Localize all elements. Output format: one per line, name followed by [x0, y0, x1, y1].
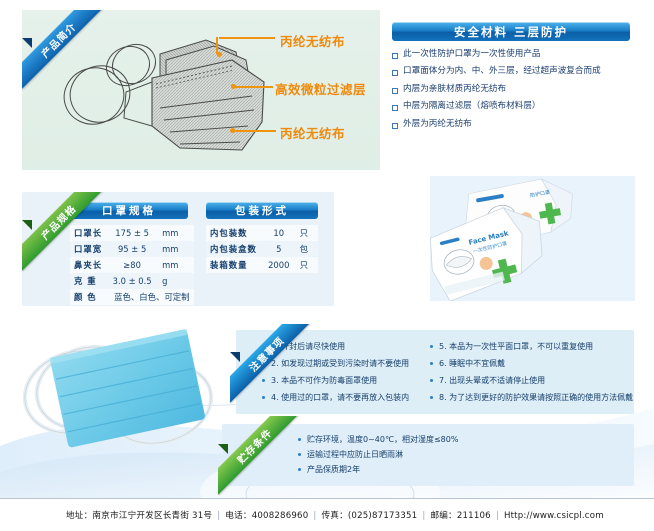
spec-key: 内包装数: [206, 225, 262, 241]
footer-separator: |: [417, 511, 430, 521]
section-safety-material: 安全材料 三层防护 此一次性防护口罩为一次性使用产品 口罩面体分为内、中、外三层…: [392, 22, 630, 137]
table-mask-spec: 口罩规格 口罩长 175 ± 5 mm 口罩宽 95 ± 5 mm 鼻夹长 ≥8…: [70, 202, 188, 305]
safety-item: 此一次性防护口罩为一次性使用产品: [392, 50, 630, 59]
spec-unit: mm: [158, 241, 193, 257]
table-row: 口罩长 175 ± 5 mm: [70, 225, 194, 241]
spec-value: 2000: [262, 257, 296, 273]
storage-list: 贮存环境，温度0~40℃，相对湿度≤80% 运输过程中应防止日晒雨淋 产品保质期…: [298, 436, 458, 481]
caution-item: 5. 本品为一次性平面口罩，不可以重复使用: [430, 343, 633, 351]
caution-list-left: 1. 开封后请尽快使用 2. 如发现过期或受到污染时请不要使用 3. 本品不可作…: [262, 343, 409, 402]
spec-unit: 只: [296, 225, 318, 241]
ribbon-tail-spec: [22, 220, 32, 230]
section-cautions: 1. 开封后请尽快使用 2. 如发现过期或受到污染时请不要使用 3. 本品不可作…: [236, 330, 634, 414]
caution-item: 8. 为了达到更好的防护效果请按照正确的使用方法佩戴: [430, 394, 633, 402]
spec-value: 3.0 ± 0.5: [106, 273, 158, 289]
storage-item: 贮存环境，温度0~40℃，相对湿度≤80%: [298, 436, 458, 444]
table-package-spec: 包装形式 内包装数 10 只 内包装盒数 5 包 装箱数量 2000 只: [206, 202, 318, 273]
footer-contact-line: 地址：南京市江宁开发区长青街 31号|电话：4008286960|传真：(025…: [66, 509, 604, 521]
section-product-intro: 丙纶无纺布 高效微粒过滤层 丙纶无纺布 产品简介: [22, 10, 380, 170]
product-packaging-photo: 防护口罩 Face Mask 一次性防护口罩: [430, 176, 635, 301]
spec-value: 175 ± 5: [106, 225, 158, 241]
table-row: 克 重 3.0 ± 0.5 g: [70, 273, 194, 289]
package-spec-title: 包装形式: [206, 202, 318, 219]
spec-unit: 包: [296, 241, 318, 257]
caution-item: 2. 如发现过期或受到污染时请不要使用: [262, 360, 409, 368]
caution-item: 1. 开封后请尽快使用: [262, 343, 409, 351]
safety-title-bar: 安全材料 三层防护: [392, 22, 630, 41]
spec-key: 克 重: [70, 273, 106, 289]
caution-item: 4. 使用过的口罩，请不要再放入包装内: [262, 394, 409, 402]
spec-value: 95 ± 5: [106, 241, 158, 257]
footer-zip-label: 邮编：: [430, 511, 456, 521]
spec-key: 口罩宽: [70, 241, 106, 257]
table-row: 鼻夹长 ≥80 mm: [70, 257, 194, 273]
safety-item: 内层为亲肤材质丙纶无纺布: [392, 85, 630, 94]
blue-mask-photo: [10, 312, 245, 462]
table-row: 内包装数 10 只: [206, 225, 318, 241]
spec-key: 鼻夹长: [70, 257, 106, 273]
package-spec-table: 内包装数 10 只 内包装盒数 5 包 装箱数量 2000 只: [206, 225, 318, 273]
spec-unit: 只: [296, 257, 318, 273]
footer-phone-label: 电话：: [225, 511, 251, 521]
caution-list-right: 5. 本品为一次性平面口罩，不可以重复使用 6. 睡眠中不宜佩戴 7. 出现头晕…: [430, 343, 633, 402]
safety-item: 口罩面体分为内、中、外三层，经过超声波复合而成: [392, 67, 630, 76]
callout-leader-1: [219, 37, 275, 39]
footer-address: 南京市江宁开发区长青街 31号: [92, 511, 212, 521]
footer-website: Http://www.csicpl.com: [504, 511, 604, 521]
ribbon-label-storage: 贮存条件: [218, 416, 303, 495]
footer-fax-label: 传真：: [321, 511, 347, 521]
spec-value: 10: [262, 225, 296, 241]
callout-label-outer-layer: 丙纶无纺布: [280, 31, 345, 50]
footer-bar: 地址：南京市江宁开发区长青街 31号|电话：4008286960|传真：(025…: [0, 498, 654, 531]
product-brochure-page: 丙纶无纺布 高效微粒过滤层 丙纶无纺布 产品简介 安全材料 三层防护 此一次性防…: [0, 0, 654, 531]
callout-leader-3: [234, 130, 276, 132]
callout-leader-2: [235, 86, 273, 88]
storage-item: 运输过程中应防止日晒雨淋: [298, 451, 458, 459]
footer-separator: |: [212, 511, 225, 521]
table-row: 内包装盒数 5 包: [206, 241, 318, 257]
safety-item: 外层为丙纶无纺布: [392, 120, 630, 129]
callout-leader-1-vertical: [216, 37, 218, 54]
footer-fax: (025)87173351: [348, 511, 417, 521]
spec-unit: mm: [158, 225, 193, 241]
spec-value: 5: [262, 241, 296, 257]
section-specifications: 口罩规格 口罩长 175 ± 5 mm 口罩宽 95 ± 5 mm 鼻夹长 ≥8…: [22, 192, 334, 306]
spec-unit: g: [158, 273, 193, 289]
footer-address-label: 地址：: [66, 511, 92, 521]
caution-column-right: 5. 本品为一次性平面口罩，不可以重复使用 6. 睡眠中不宜佩戴 7. 出现头晕…: [430, 343, 633, 411]
safety-item: 中层为隔离过滤层（熔喷布材料层）: [392, 102, 630, 111]
mask-spec-title: 口罩规格: [70, 202, 188, 219]
caution-item: 6. 睡眠中不宜佩戴: [430, 360, 633, 368]
storage-item: 产品保质期2年: [298, 466, 458, 474]
spec-key: 装箱数量: [206, 257, 262, 273]
mask-structure-diagram: [56, 26, 311, 166]
table-row: 装箱数量 2000 只: [206, 257, 318, 273]
caution-item: 3. 本品不可作为防毒面罩使用: [262, 377, 409, 385]
spec-key: 内包装盒数: [206, 241, 262, 257]
callout-label-inner-layer: 丙纶无纺布: [280, 123, 345, 142]
footer-zip: 211106: [457, 511, 491, 521]
caution-column-left: 1. 开封后请尽快使用 2. 如发现过期或受到污染时请不要使用 3. 本品不可作…: [262, 343, 409, 411]
spec-unit: mm: [158, 257, 193, 273]
spec-value: ≥80: [106, 257, 158, 273]
callout-label-filter-layer: 高效微粒过滤层: [275, 79, 366, 98]
safety-bullet-list: 此一次性防护口罩为一次性使用产品 口罩面体分为内、中、外三层，经过超声波复合而成…: [392, 50, 630, 129]
footer-separator: |: [308, 511, 321, 521]
section-storage-conditions: 贮存环境，温度0~40℃，相对湿度≤80% 运输过程中应防止日晒雨淋 产品保质期…: [222, 424, 634, 486]
footer-phone: 4008286960: [252, 511, 309, 521]
footer-separator: |: [491, 511, 504, 521]
mask-spec-table: 口罩长 175 ± 5 mm 口罩宽 95 ± 5 mm 鼻夹长 ≥80 mm …: [70, 225, 194, 305]
spec-key: 口罩长: [70, 225, 106, 241]
table-row: 口罩宽 95 ± 5 mm: [70, 241, 194, 257]
caution-item: 7. 出现头晕或不适请停止使用: [430, 377, 633, 385]
